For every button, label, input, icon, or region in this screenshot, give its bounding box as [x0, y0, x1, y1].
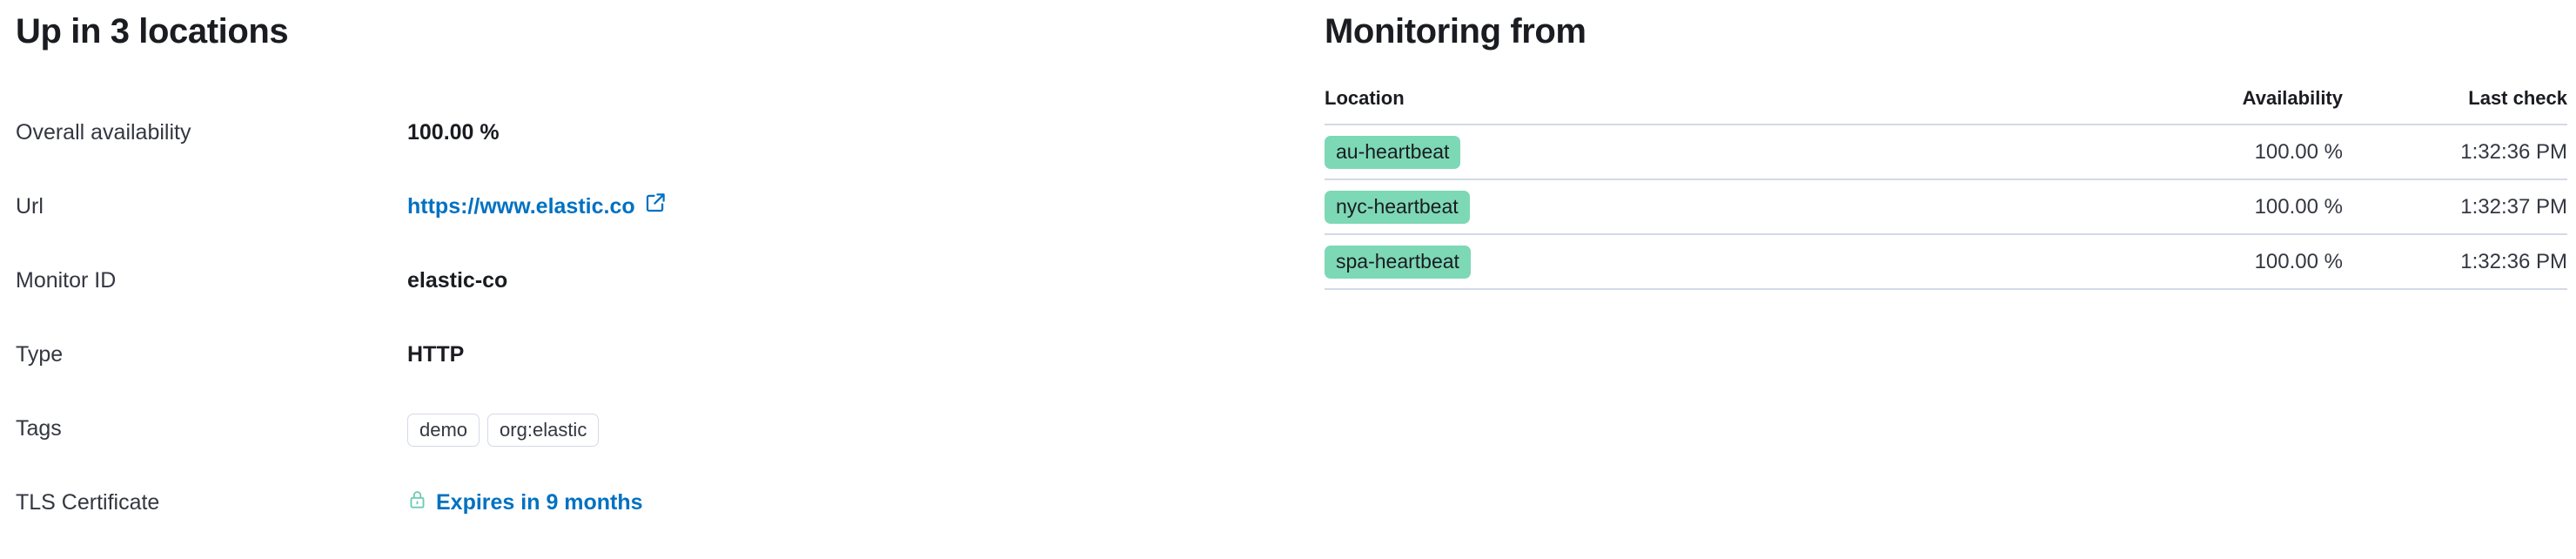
url-link[interactable]: https://www.elastic.co: [407, 192, 666, 221]
column-header-availability[interactable]: Availability: [2003, 87, 2343, 125]
cell-location: spa-heartbeat: [1325, 234, 2003, 289]
overall-availability-value: 100.00 %: [407, 115, 1251, 147]
lock-icon: [407, 488, 427, 517]
column-header-last-check[interactable]: Last check: [2343, 87, 2567, 125]
table-row: spa-heartbeat 100.00 % 1:32:36 PM: [1325, 234, 2567, 289]
tls-certificate-label: Expires in 9 months: [436, 488, 643, 517]
url-link-label: https://www.elastic.co: [407, 192, 635, 221]
column-header-location[interactable]: Location: [1325, 87, 2003, 125]
cell-last-check: 1:32:37 PM: [2343, 179, 2567, 234]
detail-row-type: Type HTTP: [16, 337, 1251, 411]
locations-table: Location Availability Last check au-hear…: [1325, 87, 2567, 290]
cell-availability: 100.00 %: [2003, 234, 2343, 289]
cell-availability: 100.00 %: [2003, 179, 2343, 234]
detail-label: Tags: [16, 411, 407, 443]
detail-label: Overall availability: [16, 115, 407, 147]
monitor-summary-panel: Up in 3 locations Overall availability 1…: [16, 0, 1269, 519]
detail-row-overall-availability: Overall availability 100.00 %: [16, 115, 1251, 189]
location-badge[interactable]: spa-heartbeat: [1325, 246, 1471, 279]
tag-pill[interactable]: org:elastic: [487, 414, 599, 447]
monitor-detail-list: Overall availability 100.00 % Url https:…: [16, 115, 1251, 559]
monitoring-from-title: Monitoring from: [1325, 14, 1587, 49]
url-value-cell: https://www.elastic.co: [407, 189, 1251, 221]
table-row: au-heartbeat 100.00 % 1:32:36 PM: [1325, 125, 2567, 179]
location-badge[interactable]: nyc-heartbeat: [1325, 191, 1470, 224]
table-row: nyc-heartbeat 100.00 % 1:32:37 PM: [1325, 179, 2567, 234]
detail-label: Url: [16, 189, 407, 221]
cell-last-check: 1:32:36 PM: [2343, 234, 2567, 289]
table-header-row: Location Availability Last check: [1325, 87, 2567, 125]
monitor-id-value: elastic-co: [407, 263, 1251, 295]
tag-pill[interactable]: demo: [407, 414, 480, 447]
cell-location: nyc-heartbeat: [1325, 179, 2003, 234]
locations-table-head: Location Availability Last check: [1325, 87, 2567, 125]
cell-location: au-heartbeat: [1325, 125, 2003, 179]
detail-label: Type: [16, 337, 407, 369]
monitoring-locations-panel: Monitoring from Location Availability La…: [1325, 0, 2567, 519]
location-badge[interactable]: au-heartbeat: [1325, 136, 1460, 169]
tls-certificate-link[interactable]: Expires in 9 months: [407, 488, 643, 517]
page-title: Up in 3 locations: [16, 14, 288, 49]
monitor-type-value: HTTP: [407, 337, 1251, 369]
tls-value-cell: Expires in 9 months: [407, 485, 1251, 517]
detail-row-monitor-id: Monitor ID elastic-co: [16, 263, 1251, 337]
detail-row-tags: Tags demo org:elastic: [16, 411, 1251, 485]
external-link-icon: [645, 192, 666, 221]
detail-label: TLS Certificate: [16, 485, 407, 517]
detail-label: Monitor ID: [16, 263, 407, 295]
tag-list: demo org:elastic: [407, 414, 599, 447]
locations-table-body: au-heartbeat 100.00 % 1:32:36 PM nyc-hea…: [1325, 125, 2567, 289]
detail-row-url: Url https://www.elastic.co: [16, 189, 1251, 263]
tags-value-cell: demo org:elastic: [407, 411, 1251, 447]
cell-last-check: 1:32:36 PM: [2343, 125, 2567, 179]
detail-row-tls-certificate: TLS Certificate Expires in 9 months: [16, 485, 1251, 559]
cell-availability: 100.00 %: [2003, 125, 2343, 179]
